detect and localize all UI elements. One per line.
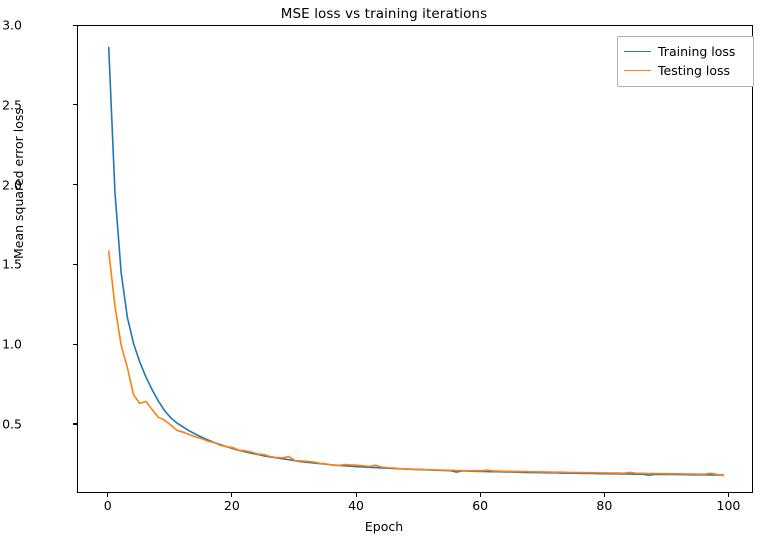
legend-swatch-testing-loss <box>624 70 651 71</box>
legend-item-testing-loss: Testing loss <box>624 61 747 80</box>
x-tick-label: 100 <box>698 498 758 513</box>
chart-legend: Training loss Testing loss <box>617 36 754 87</box>
x-tick-label: 0 <box>78 498 138 513</box>
x-tick-label: 40 <box>326 498 386 513</box>
x-tick-label: 80 <box>574 498 634 513</box>
matplotlib-figure: MSE loss vs training iterations Mean squ… <box>0 0 768 547</box>
y-tick-label: 1.0 <box>0 337 22 352</box>
plot-area <box>77 25 753 493</box>
line-chart-canvas <box>78 26 754 494</box>
legend-swatch-training-loss <box>624 51 651 52</box>
y-tick-label: 3.0 <box>0 18 22 33</box>
training-loss-line <box>109 48 724 476</box>
legend-item-training-loss: Training loss <box>624 42 747 61</box>
x-tick-label: 60 <box>450 498 510 513</box>
y-tick-label: 2.5 <box>0 97 22 112</box>
y-tick-label: 0.5 <box>0 416 22 431</box>
legend-label-training-loss: Training loss <box>658 44 735 59</box>
testing-loss-line <box>109 251 724 476</box>
x-axis-label: Epoch <box>0 519 768 534</box>
y-tick-label: 1.5 <box>0 257 22 272</box>
y-tick-label: 2.0 <box>0 177 22 192</box>
x-tick-label: 20 <box>202 498 262 513</box>
chart-title: MSE loss vs training iterations <box>0 6 768 22</box>
legend-label-testing-loss: Testing loss <box>658 63 730 78</box>
